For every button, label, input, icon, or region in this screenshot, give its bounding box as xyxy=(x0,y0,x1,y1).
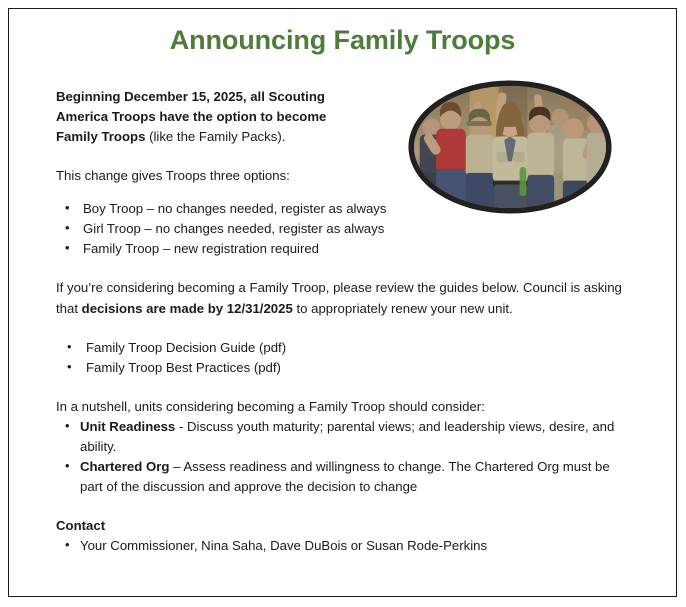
page-title: Announcing Family Troops xyxy=(9,25,676,56)
nutshell-list: Unit Readiness - Discuss youth maturity;… xyxy=(56,417,632,497)
contact-heading: Contact xyxy=(56,516,632,536)
list-item-chartered-org: Chartered Org – Assess readiness and wil… xyxy=(56,457,632,497)
review-paragraph: If you’re considering becoming a Family … xyxy=(56,278,632,318)
list-item-unit-readiness: Unit Readiness - Discuss youth maturity;… xyxy=(56,417,632,457)
review-deadline-text: decisions are made by 12/31/2025 xyxy=(82,301,293,316)
flyer-page: Announcing Family Troops xyxy=(8,8,677,597)
nutshell-lead: In a nutshell, units considering becomin… xyxy=(56,397,632,417)
options-list: Boy Troop – no changes needed, register … xyxy=(56,199,632,259)
intro-normal-text: (like the Family Packs). xyxy=(145,129,285,144)
review-post-text: to appropriately renew your new unit. xyxy=(293,301,513,316)
intro-paragraph: Beginning December 15, 2025, all Scoutin… xyxy=(56,87,356,147)
contact-list: Your Commissioner, Nina Saha, Dave DuBoi… xyxy=(56,536,632,556)
list-item: Family Troop – new registration required xyxy=(56,239,632,259)
list-item: Boy Troop – no changes needed, register … xyxy=(56,199,632,219)
unit-readiness-label: Unit Readiness xyxy=(80,419,175,434)
list-item: Your Commissioner, Nina Saha, Dave DuBoi… xyxy=(56,536,632,556)
guides-list: Family Troop Decision Guide (pdf) Family… xyxy=(56,338,632,378)
guide-link-decision-guide[interactable]: Family Troop Decision Guide (pdf) xyxy=(56,338,632,358)
chartered-org-label: Chartered Org xyxy=(80,459,169,474)
list-item: Girl Troop – no changes needed, register… xyxy=(56,219,632,239)
options-lead: This change gives Troops three options: xyxy=(56,166,632,186)
flyer-body: Beginning December 15, 2025, all Scoutin… xyxy=(56,87,632,556)
guide-link-best-practices[interactable]: Family Troop Best Practices (pdf) xyxy=(56,358,632,378)
